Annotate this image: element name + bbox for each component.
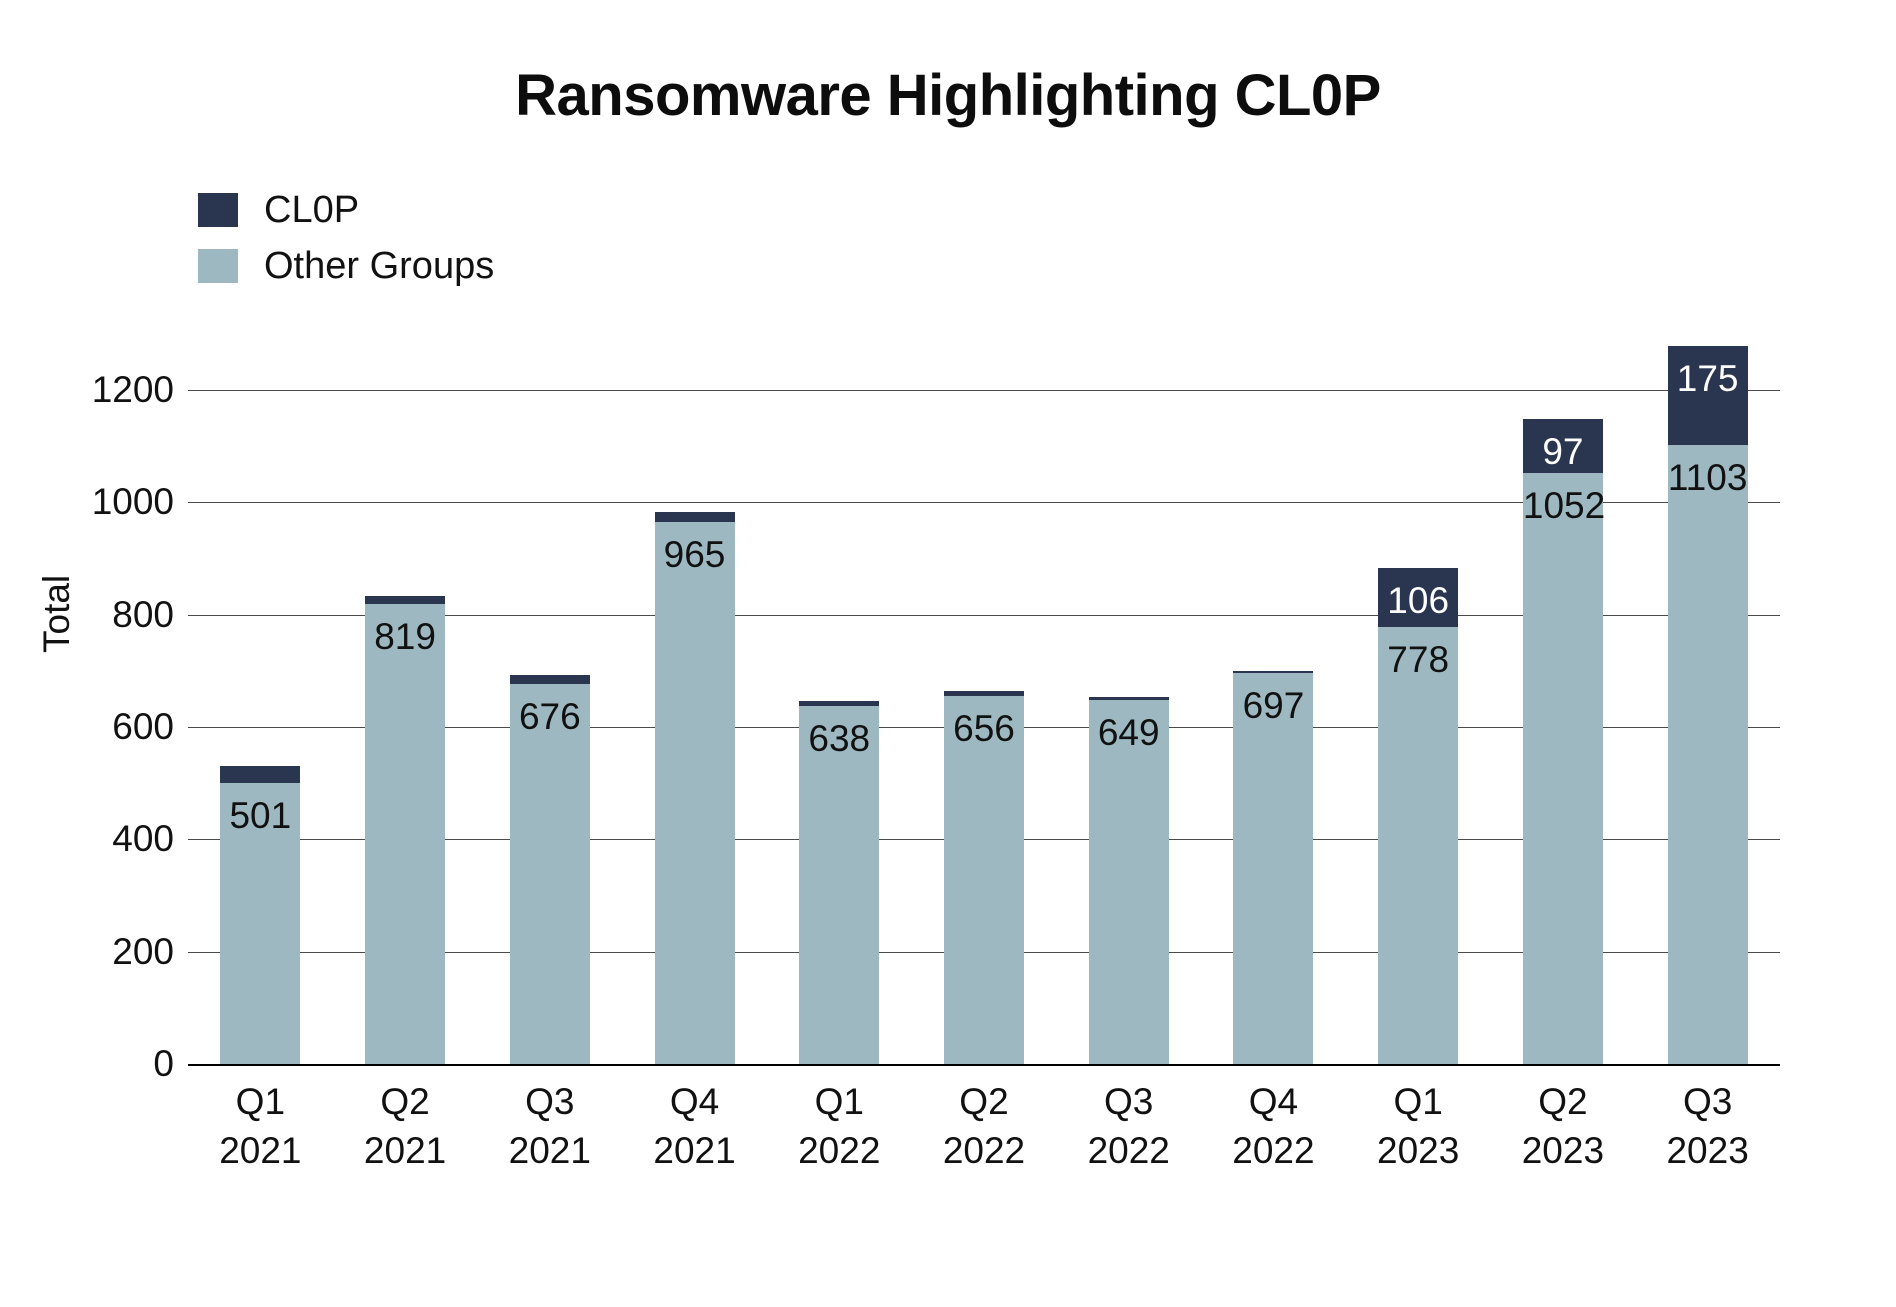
bar-segment-clop[interactable] xyxy=(1233,671,1313,673)
y-axis-tick-label: 200 xyxy=(24,931,174,973)
x-axis-tick-label: Q12022 xyxy=(767,1078,912,1176)
bar-segment-clop[interactable] xyxy=(655,512,735,522)
bar-segment-clop[interactable]: 175 xyxy=(1668,346,1748,444)
x-tick-quarter: Q1 xyxy=(767,1078,912,1127)
bar-value-label-other-groups: 819 xyxy=(365,618,445,655)
bar-segment-clop[interactable] xyxy=(510,675,590,684)
bar-value-label-other-groups: 965 xyxy=(655,536,735,573)
x-tick-year: 2023 xyxy=(1346,1127,1491,1176)
bar-value-label-other-groups: 697 xyxy=(1233,687,1313,724)
x-tick-year: 2022 xyxy=(1056,1127,1201,1176)
y-axis-tick-label: 1200 xyxy=(24,369,174,411)
ransomware-stacked-bar-chart: Ransomware Highlighting CL0P CL0P Other … xyxy=(0,0,1896,1307)
y-axis-tick-label: 800 xyxy=(24,594,174,636)
bar-segment-other-groups[interactable]: 1103 xyxy=(1668,445,1748,1064)
bar-segment-clop[interactable] xyxy=(944,691,1024,695)
gridline xyxy=(188,1064,1780,1066)
legend-item-clop[interactable]: CL0P xyxy=(198,182,494,238)
bar-segment-clop[interactable] xyxy=(365,596,445,604)
x-tick-year: 2022 xyxy=(767,1127,912,1176)
bar-value-label-clop: 175 xyxy=(1668,360,1748,397)
x-axis-tick-label: Q22023 xyxy=(1491,1078,1636,1176)
x-tick-year: 2023 xyxy=(1491,1127,1636,1176)
bar-segment-other-groups[interactable]: 649 xyxy=(1089,700,1169,1064)
bar-segment-other-groups[interactable]: 819 xyxy=(365,604,445,1064)
plot-area: 5018196769656386566496977781061052971103… xyxy=(188,334,1780,1064)
bar-group[interactable]: 697 xyxy=(1233,334,1313,1064)
x-tick-quarter: Q2 xyxy=(912,1078,1057,1127)
bar-segment-other-groups[interactable]: 697 xyxy=(1233,673,1313,1064)
bar-value-label-clop: 106 xyxy=(1378,582,1458,619)
bar-value-label-other-groups: 1103 xyxy=(1668,459,1748,496)
x-tick-year: 2023 xyxy=(1635,1127,1780,1176)
bar-value-label-other-groups: 649 xyxy=(1089,714,1169,751)
bar-value-label-other-groups: 501 xyxy=(220,797,300,834)
bar-group[interactable]: 656 xyxy=(944,334,1024,1064)
bar-segment-other-groups[interactable]: 778 xyxy=(1378,627,1458,1064)
bar-group[interactable]: 778106 xyxy=(1378,334,1458,1064)
x-tick-quarter: Q2 xyxy=(333,1078,478,1127)
bar-group[interactable]: 676 xyxy=(510,334,590,1064)
x-tick-quarter: Q3 xyxy=(1056,1078,1201,1127)
y-axis-tick-label: 600 xyxy=(24,706,174,748)
x-tick-quarter: Q1 xyxy=(188,1078,333,1127)
bar-group[interactable]: 1103175 xyxy=(1668,334,1748,1064)
x-tick-year: 2021 xyxy=(333,1127,478,1176)
x-tick-year: 2021 xyxy=(188,1127,333,1176)
x-axis-tick-label: Q22021 xyxy=(333,1078,478,1176)
x-tick-quarter: Q4 xyxy=(1201,1078,1346,1127)
bar-group[interactable]: 501 xyxy=(220,334,300,1064)
x-axis-tick-label: Q12021 xyxy=(188,1078,333,1176)
bar-segment-other-groups[interactable]: 1052 xyxy=(1523,473,1603,1064)
bar-group[interactable]: 105297 xyxy=(1523,334,1603,1064)
bar-segment-other-groups[interactable]: 501 xyxy=(220,783,300,1064)
legend-label-clop: CL0P xyxy=(264,189,359,232)
x-axis-tick-label: Q42022 xyxy=(1201,1078,1346,1176)
bar-segment-clop[interactable] xyxy=(799,701,879,705)
x-axis-tick-label: Q42021 xyxy=(622,1078,767,1176)
bar-segment-clop[interactable] xyxy=(1089,697,1169,700)
x-tick-quarter: Q2 xyxy=(1491,1078,1636,1127)
bar-group[interactable]: 965 xyxy=(655,334,735,1064)
y-axis-tick-label: 400 xyxy=(24,818,174,860)
x-tick-year: 2021 xyxy=(477,1127,622,1176)
bar-segment-clop[interactable] xyxy=(220,766,300,783)
x-tick-year: 2021 xyxy=(622,1127,767,1176)
y-axis-tick-label: 1000 xyxy=(24,481,174,523)
x-axis-tick-label: Q22022 xyxy=(912,1078,1057,1176)
x-tick-year: 2022 xyxy=(912,1127,1057,1176)
x-tick-quarter: Q3 xyxy=(1635,1078,1780,1127)
bar-segment-other-groups[interactable]: 656 xyxy=(944,696,1024,1064)
x-axis-tick-label: Q32023 xyxy=(1635,1078,1780,1176)
bar-value-label-other-groups: 638 xyxy=(799,720,879,757)
x-tick-quarter: Q3 xyxy=(477,1078,622,1127)
bar-segment-other-groups[interactable]: 676 xyxy=(510,684,590,1064)
x-axis-tick-label: Q32022 xyxy=(1056,1078,1201,1176)
bar-segment-other-groups[interactable]: 965 xyxy=(655,522,735,1064)
bar-segment-other-groups[interactable]: 638 xyxy=(799,706,879,1064)
x-tick-quarter: Q4 xyxy=(622,1078,767,1127)
bar-segment-clop[interactable]: 106 xyxy=(1378,568,1458,628)
legend-swatch-clop xyxy=(198,193,238,227)
bar-value-label-other-groups: 778 xyxy=(1378,641,1458,678)
bar-value-label-other-groups: 656 xyxy=(944,710,1024,747)
x-axis-tick-label: Q12023 xyxy=(1346,1078,1491,1176)
legend-item-other-groups[interactable]: Other Groups xyxy=(198,238,494,294)
chart-title: Ransomware Highlighting CL0P xyxy=(0,62,1896,129)
bar-value-label-other-groups: 676 xyxy=(510,698,590,735)
x-axis-tick-label: Q32021 xyxy=(477,1078,622,1176)
bar-value-label-clop: 97 xyxy=(1523,433,1603,470)
y-axis-tick-label: 0 xyxy=(24,1043,174,1085)
bar-group[interactable]: 638 xyxy=(799,334,879,1064)
bar-group[interactable]: 819 xyxy=(365,334,445,1064)
legend-label-other-groups: Other Groups xyxy=(264,245,494,288)
legend-swatch-other-groups xyxy=(198,249,238,283)
bar-group[interactable]: 649 xyxy=(1089,334,1169,1064)
bar-value-label-other-groups: 1052 xyxy=(1523,487,1603,524)
bar-segment-clop[interactable]: 97 xyxy=(1523,419,1603,473)
x-tick-quarter: Q1 xyxy=(1346,1078,1491,1127)
x-tick-year: 2022 xyxy=(1201,1127,1346,1176)
chart-legend: CL0P Other Groups xyxy=(198,182,494,294)
